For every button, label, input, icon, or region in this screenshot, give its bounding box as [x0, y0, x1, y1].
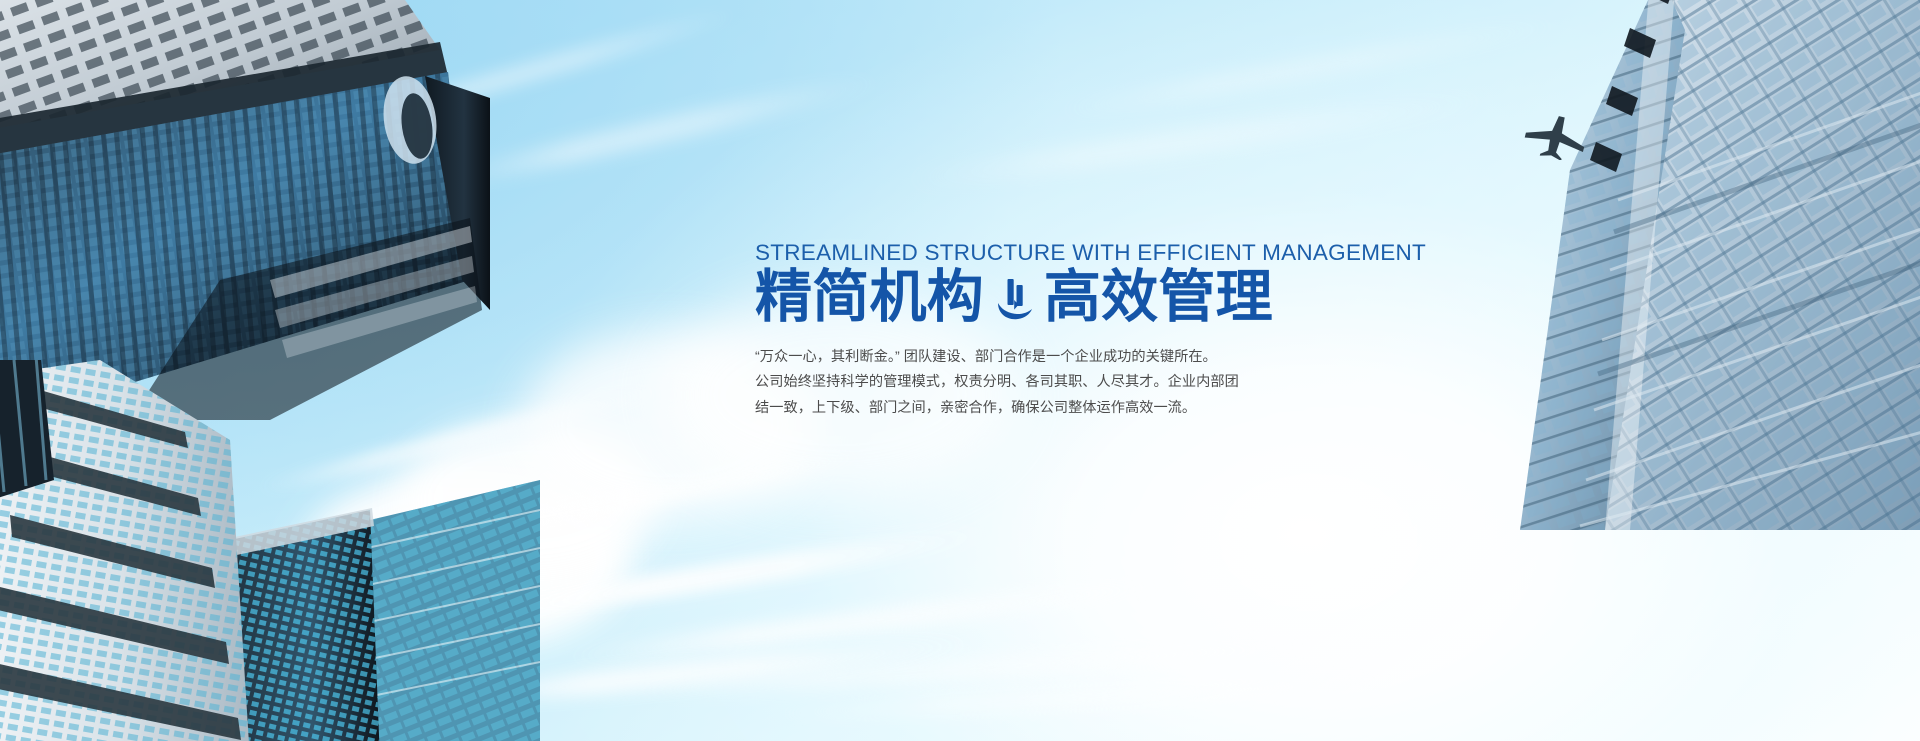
- white-teal-residential-towers: [0, 360, 540, 741]
- company-logo-mark-icon: [994, 276, 1034, 324]
- hero-copy: STREAMLINED STRUCTURE WITH EFFICIENT MAN…: [755, 240, 1315, 421]
- cirrus-streak: [561, 572, 1179, 669]
- cirrus-streak: [902, 88, 1499, 191]
- dark-glass-skyscraper: [0, 0, 490, 420]
- body-paragraph: “万众一心，其利断金。” 团队建设、部门合作是一个企业成功的关键所在。 公司始终…: [755, 345, 1277, 421]
- body-line: 公司始终坚持科学的管理模式，权责分明、各司其职、人尽其才。企业内部团: [755, 370, 1277, 395]
- cirrus-streak: [433, 69, 886, 194]
- airplane-silhouette-icon: [1520, 112, 1592, 160]
- silver-glass-tower: [1510, 0, 1920, 530]
- headline-left-phrase: 精简机构: [755, 268, 984, 327]
- cirrus-streak: [760, 673, 1400, 722]
- main-headline: 精简机构 高效管理: [755, 268, 1315, 327]
- body-line: 结一致，上下级、部门之间，亲密合作，确保公司整体运作高效一流。: [755, 396, 1277, 421]
- cirrus-streak: [481, 519, 999, 626]
- cirrus-streak: [620, 636, 1320, 703]
- hero-banner: STREAMLINED STRUCTURE WITH EFFICIENT MAN…: [0, 0, 1920, 741]
- eyebrow-headline: STREAMLINED STRUCTURE WITH EFFICIENT MAN…: [755, 240, 1315, 266]
- headline-right-phrase: 高效管理: [1044, 268, 1273, 327]
- cirrus-streak: [1053, 15, 1568, 121]
- body-line: “万众一心，其利断金。” 团队建设、部门合作是一个企业成功的关键所在。: [755, 345, 1277, 370]
